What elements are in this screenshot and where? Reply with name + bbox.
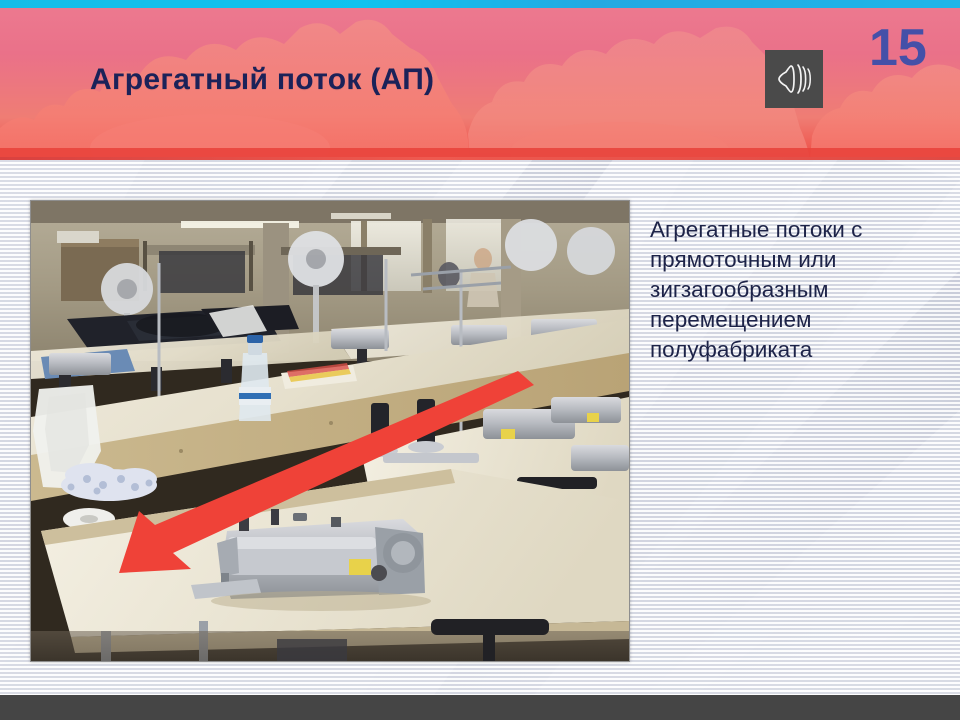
workshop-photo <box>30 200 630 662</box>
header-divider <box>0 157 960 160</box>
body-line-1: Агрегатные потоки с <box>650 215 950 245</box>
slide-body-text: Агрегатные потоки с прямоточным или зигз… <box>650 215 950 365</box>
slide-number: 15 <box>869 22 927 74</box>
page-title: Агрегатный поток (АП) <box>90 63 434 97</box>
body-line-2: прямоточным или <box>650 245 950 275</box>
body-line-4: перемещением <box>650 305 950 335</box>
top-accent-strip <box>0 0 960 8</box>
body-line-3: зигзагообразным <box>650 275 950 305</box>
body-line-5: полуфабриката <box>650 335 950 365</box>
slide-footer-band <box>0 695 960 720</box>
speaker-icon[interactable] <box>765 50 823 108</box>
presentation-slide: Агрегатный поток (АП) 15 <box>0 0 960 720</box>
